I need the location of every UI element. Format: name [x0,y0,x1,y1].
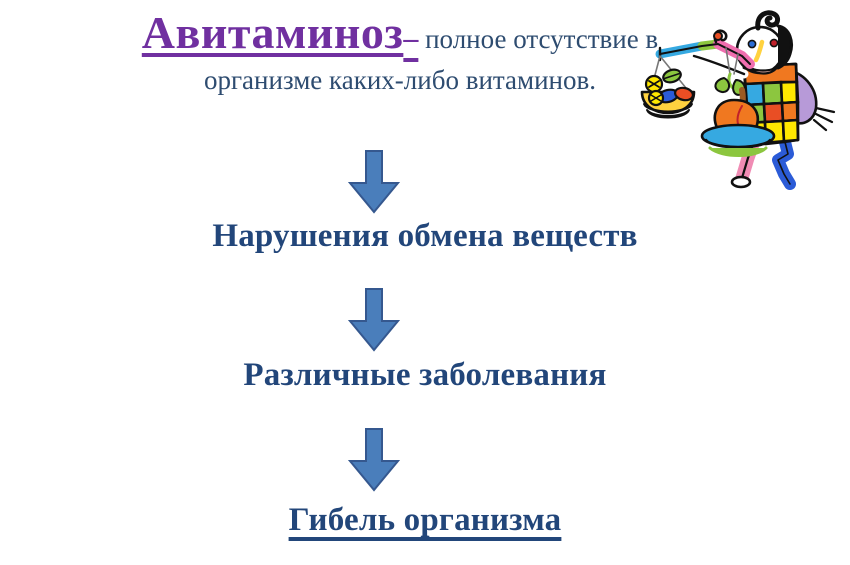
clipart-child-with-balance-scale [638,8,846,190]
definition-block: Авитаминоз– полное отсутствие в организм… [120,4,680,97]
definition-term: Авитаминоз [142,7,404,58]
flow-step-3-label: Гибель организма [0,502,850,539]
slide-canvas: Авитаминоз– полное отсутствие в организм… [0,0,850,565]
arrow-down-icon-1 [348,150,400,214]
arrow-down-icon-3 [348,428,400,492]
flow-step-1-label: Нарушения обмена веществ [0,218,850,255]
definition-dash: – [403,22,418,55]
flow-step-2-label: Различные заболевания [0,357,850,394]
arrow-down-icon-2 [348,288,400,352]
